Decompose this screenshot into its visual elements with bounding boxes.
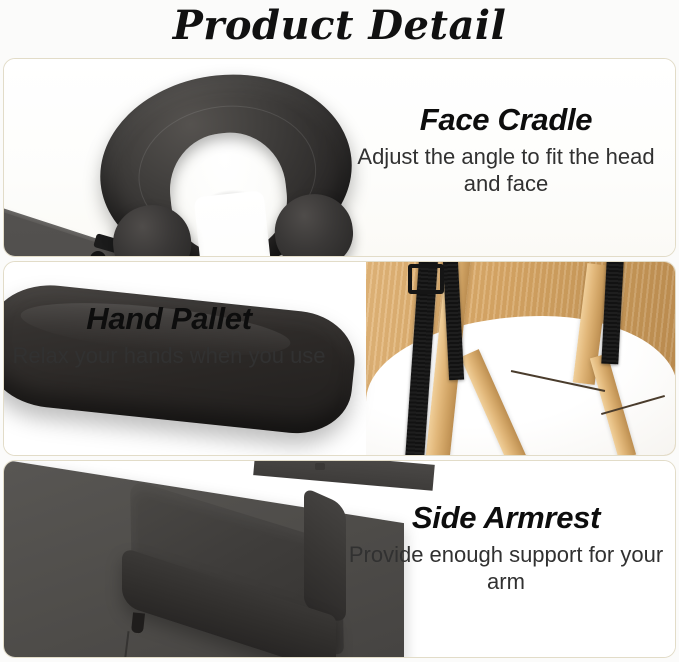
page-title: Product Detail bbox=[0, 0, 679, 56]
strap-buckle bbox=[408, 264, 444, 294]
feature-panel-hand-pallet: Hand Pallet Relax your hands when you us… bbox=[3, 261, 676, 456]
face-cradle-text: Face Cradle Adjust the angle to fit the … bbox=[347, 101, 665, 197]
feature-description: Adjust the angle to fit the head and fac… bbox=[347, 143, 665, 197]
feature-description: Provide enough support for your arm bbox=[347, 541, 665, 595]
feature-heading: Side Armrest bbox=[347, 499, 665, 537]
feature-description: Relax your hands when you use bbox=[10, 342, 328, 369]
armrest-mount-clip bbox=[131, 612, 145, 633]
feature-heading: Hand Pallet bbox=[10, 300, 328, 338]
hand-pallet-text: Hand Pallet Relax your hands when you us… bbox=[10, 300, 328, 369]
face-cradle-cushion bbox=[91, 62, 362, 256]
armrest-end-cap bbox=[304, 487, 346, 626]
feature-panel-face-cradle: Face Cradle Adjust the angle to fit the … bbox=[3, 58, 676, 257]
feature-heading: Face Cradle bbox=[347, 101, 665, 139]
cradle-gap bbox=[193, 190, 274, 256]
side-armrest-text: Side Armrest Provide enough support for … bbox=[347, 499, 665, 595]
armrest-bolt bbox=[315, 463, 325, 470]
feature-panel-side-armrest: Side Armrest Provide enough support for … bbox=[3, 460, 676, 658]
